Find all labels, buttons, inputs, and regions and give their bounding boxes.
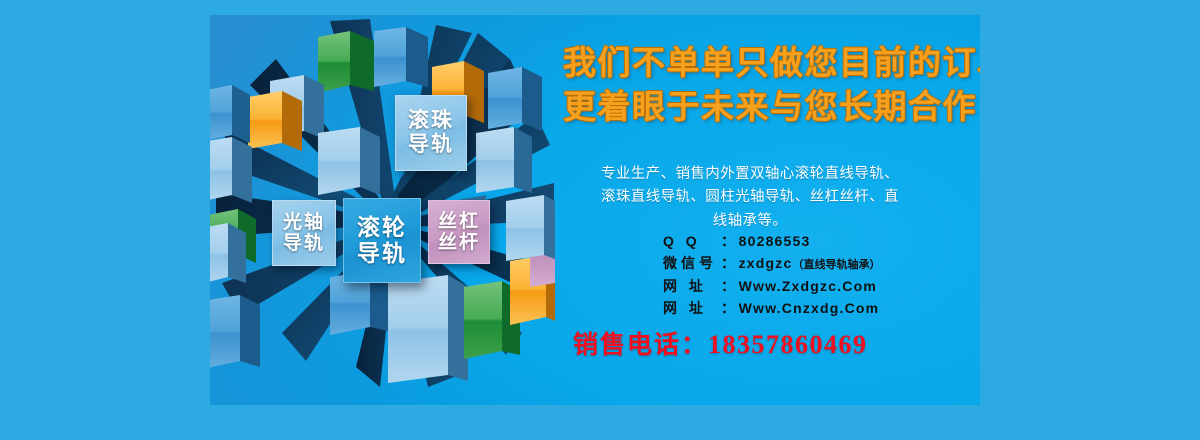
cube-label-line1: 滚珠 [408,109,454,133]
contact-value: zxdgzc [739,253,793,275]
headline-line-1: 我们不单单只做您目前的订单 [563,41,980,85]
product-cube-sigang-sigan: 丝杠 丝杆 [428,200,490,264]
contact-separator: ： [721,231,736,253]
contact-value: 80286553 [739,231,811,253]
sales-phone-label: 销售电话： [573,331,708,359]
cube-label-line1: 光轴 [283,212,325,233]
contact-row-website-1[interactable]: 网 址 ： Www.Zxdgzc.Com [663,276,881,298]
contact-separator: ： [721,298,736,320]
banner-panel: 滚珠 导轨 光轴 导轨 滚轮 导轨 丝杠 丝杆 我们不单单只做您目前的订单 更着… [210,15,980,405]
description-line-3: 线轴承等。 [565,210,935,233]
cube-label-line2: 导轨 [283,233,325,254]
cube-label-line1: 滚轮 [357,215,407,241]
description-line-2: 滚珠直线导轨、圆柱光轴导轨、丝杠丝杆、直 [565,186,935,209]
sales-phone: 销售电话：18357860469 [573,325,868,361]
cube-label-line2: 导轨 [408,133,454,157]
contact-row-website-2[interactable]: 网 址 ： Www.Cnzxdg.Com [663,298,881,320]
product-cube-gunzhu-daogui: 滚珠 导轨 [395,95,467,171]
contact-separator: ： [721,253,736,275]
description-text: 专业生产、销售内外置双轴心滚轮直线导轨、 滚珠直线导轨、圆柱光轴导轨、丝杠丝杆、… [565,163,935,233]
headline-line-2: 更着眼于未来与您长期合作 [563,85,980,129]
website-url[interactable]: Www.Zxdgzc.Com [739,276,877,298]
cube-label-line1: 丝杠 [438,211,480,232]
banner-text-column: 我们不单单只做您目前的订单 更着眼于未来与您长期合作 专业生产、销售内外置双轴心… [555,15,980,405]
description-line-1: 专业生产、销售内外置双轴心滚轮直线导轨、 [565,163,935,186]
cube-label-line2: 导轨 [357,241,407,267]
contact-note: （直线导轨轴承） [793,255,881,277]
product-cube-guangzhou-daogui: 光轴 导轨 [272,200,336,266]
contact-label: Q Q [663,231,721,253]
cube-label-line2: 丝杆 [438,232,480,253]
contact-separator: ： [721,276,736,298]
contact-label: 网 址 [663,298,721,320]
contact-row-wechat: 微信号 ： zxdgzc （直线导轨轴承） [663,253,881,277]
product-cube-gunlun-daogui: 滚轮 导轨 [343,198,421,283]
contact-info-list: Q Q ： 80286553 微信号 ： zxdgzc （直线导轨轴承） 网 址… [663,231,881,319]
contact-label: 微信号 [663,253,721,275]
sales-phone-number[interactable]: 18357860469 [708,330,868,359]
contact-label: 网 址 [663,276,721,298]
contact-row-qq: Q Q ： 80286553 [663,231,881,253]
promotional-banner: 滚珠 导轨 光轴 导轨 滚轮 导轨 丝杠 丝杆 我们不单单只做您目前的订单 更着… [0,0,1200,440]
headline: 我们不单单只做您目前的订单 更着眼于未来与您长期合作 [563,41,980,129]
website-url[interactable]: Www.Cnzxdg.Com [739,298,880,320]
